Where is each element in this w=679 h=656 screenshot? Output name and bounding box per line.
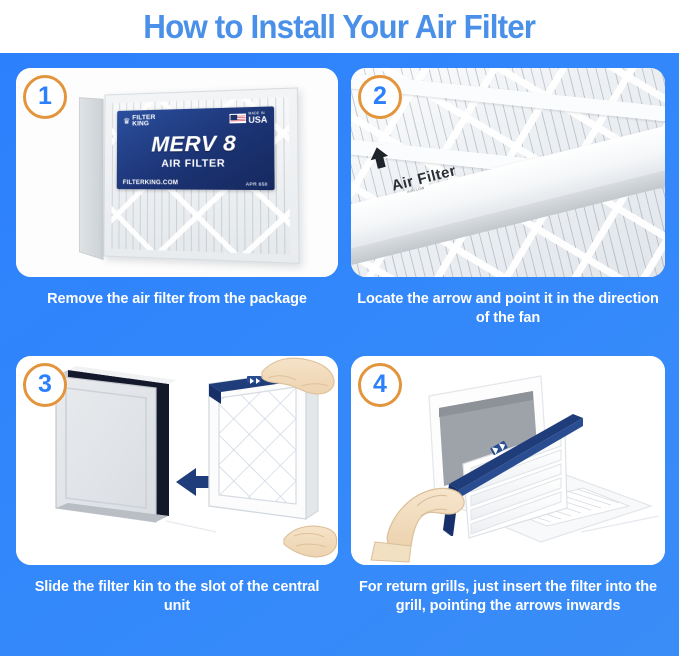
filter-front-face: ♛ FILTER KING [103, 87, 299, 264]
step-3-number: 3 [38, 372, 52, 397]
step-1-badge: 1 [23, 75, 67, 119]
step-4-caption: For return grills, just insert the filte… [351, 578, 665, 617]
step-4: 4 For return grills, just insert the fil… [351, 356, 665, 656]
page-title: How to Install Your Air Filter [144, 10, 536, 43]
brand-line-2: KING [132, 121, 155, 128]
step-4-card: 4 [351, 356, 665, 565]
made-in-usa-badge: MADE IN USA [230, 112, 268, 125]
step-3: 3 Slide the filter kin to the slot of th… [16, 356, 338, 656]
step-3-badge: 3 [23, 363, 67, 407]
step-2-number: 2 [373, 84, 387, 109]
country-text: USA [248, 116, 267, 125]
step-1-caption: Remove the air filter from the package [16, 290, 338, 309]
filter-side-edge [79, 97, 104, 260]
step-1-number: 1 [38, 84, 52, 109]
step-2-badge: 2 [358, 75, 402, 119]
step-2-caption: Locate the arrow and point it in the dir… [351, 290, 665, 329]
label-bottom-row: FILTERKING.COM APR 650 [123, 180, 268, 187]
merv-rating: MERV 8 [123, 131, 268, 158]
website-text: FILTERKING.COM [123, 180, 178, 186]
apr-rating: APR 650 [246, 181, 268, 186]
step-4-badge: 4 [358, 363, 402, 407]
filter-product-label: ♛ FILTER KING [117, 106, 275, 190]
crown-icon: ♛ [123, 118, 130, 126]
product-name: AIR FILTER [123, 158, 268, 170]
step-4-number: 4 [373, 372, 387, 397]
central-unit [56, 366, 176, 522]
step-2-card: Air Filter AIRFLOW 2 [351, 68, 665, 277]
infographic-page: How to Install Your Air Filter ♛ [0, 0, 679, 656]
header: How to Install Your Air Filter [0, 0, 679, 53]
hand-lower [284, 526, 337, 557]
us-flag-icon [230, 114, 247, 124]
step-2: Air Filter AIRFLOW 2 Locate the arrow an… [351, 68, 665, 358]
step-3-caption: Slide the filter kin to the slot of the … [16, 578, 338, 617]
step-1: ♛ FILTER KING [16, 68, 338, 358]
filter-king-logo: ♛ FILTER KING [123, 114, 155, 128]
steps-canvas: ♛ FILTER KING [0, 53, 679, 656]
steps-grid: ♛ FILTER KING [0, 53, 679, 656]
step-1-card: ♛ FILTER KING [16, 68, 338, 277]
floor-line [166, 521, 216, 532]
label-top-row: ♛ FILTER KING [123, 111, 267, 129]
replacement-filter [209, 370, 318, 519]
step-3-card: 3 [16, 356, 338, 565]
